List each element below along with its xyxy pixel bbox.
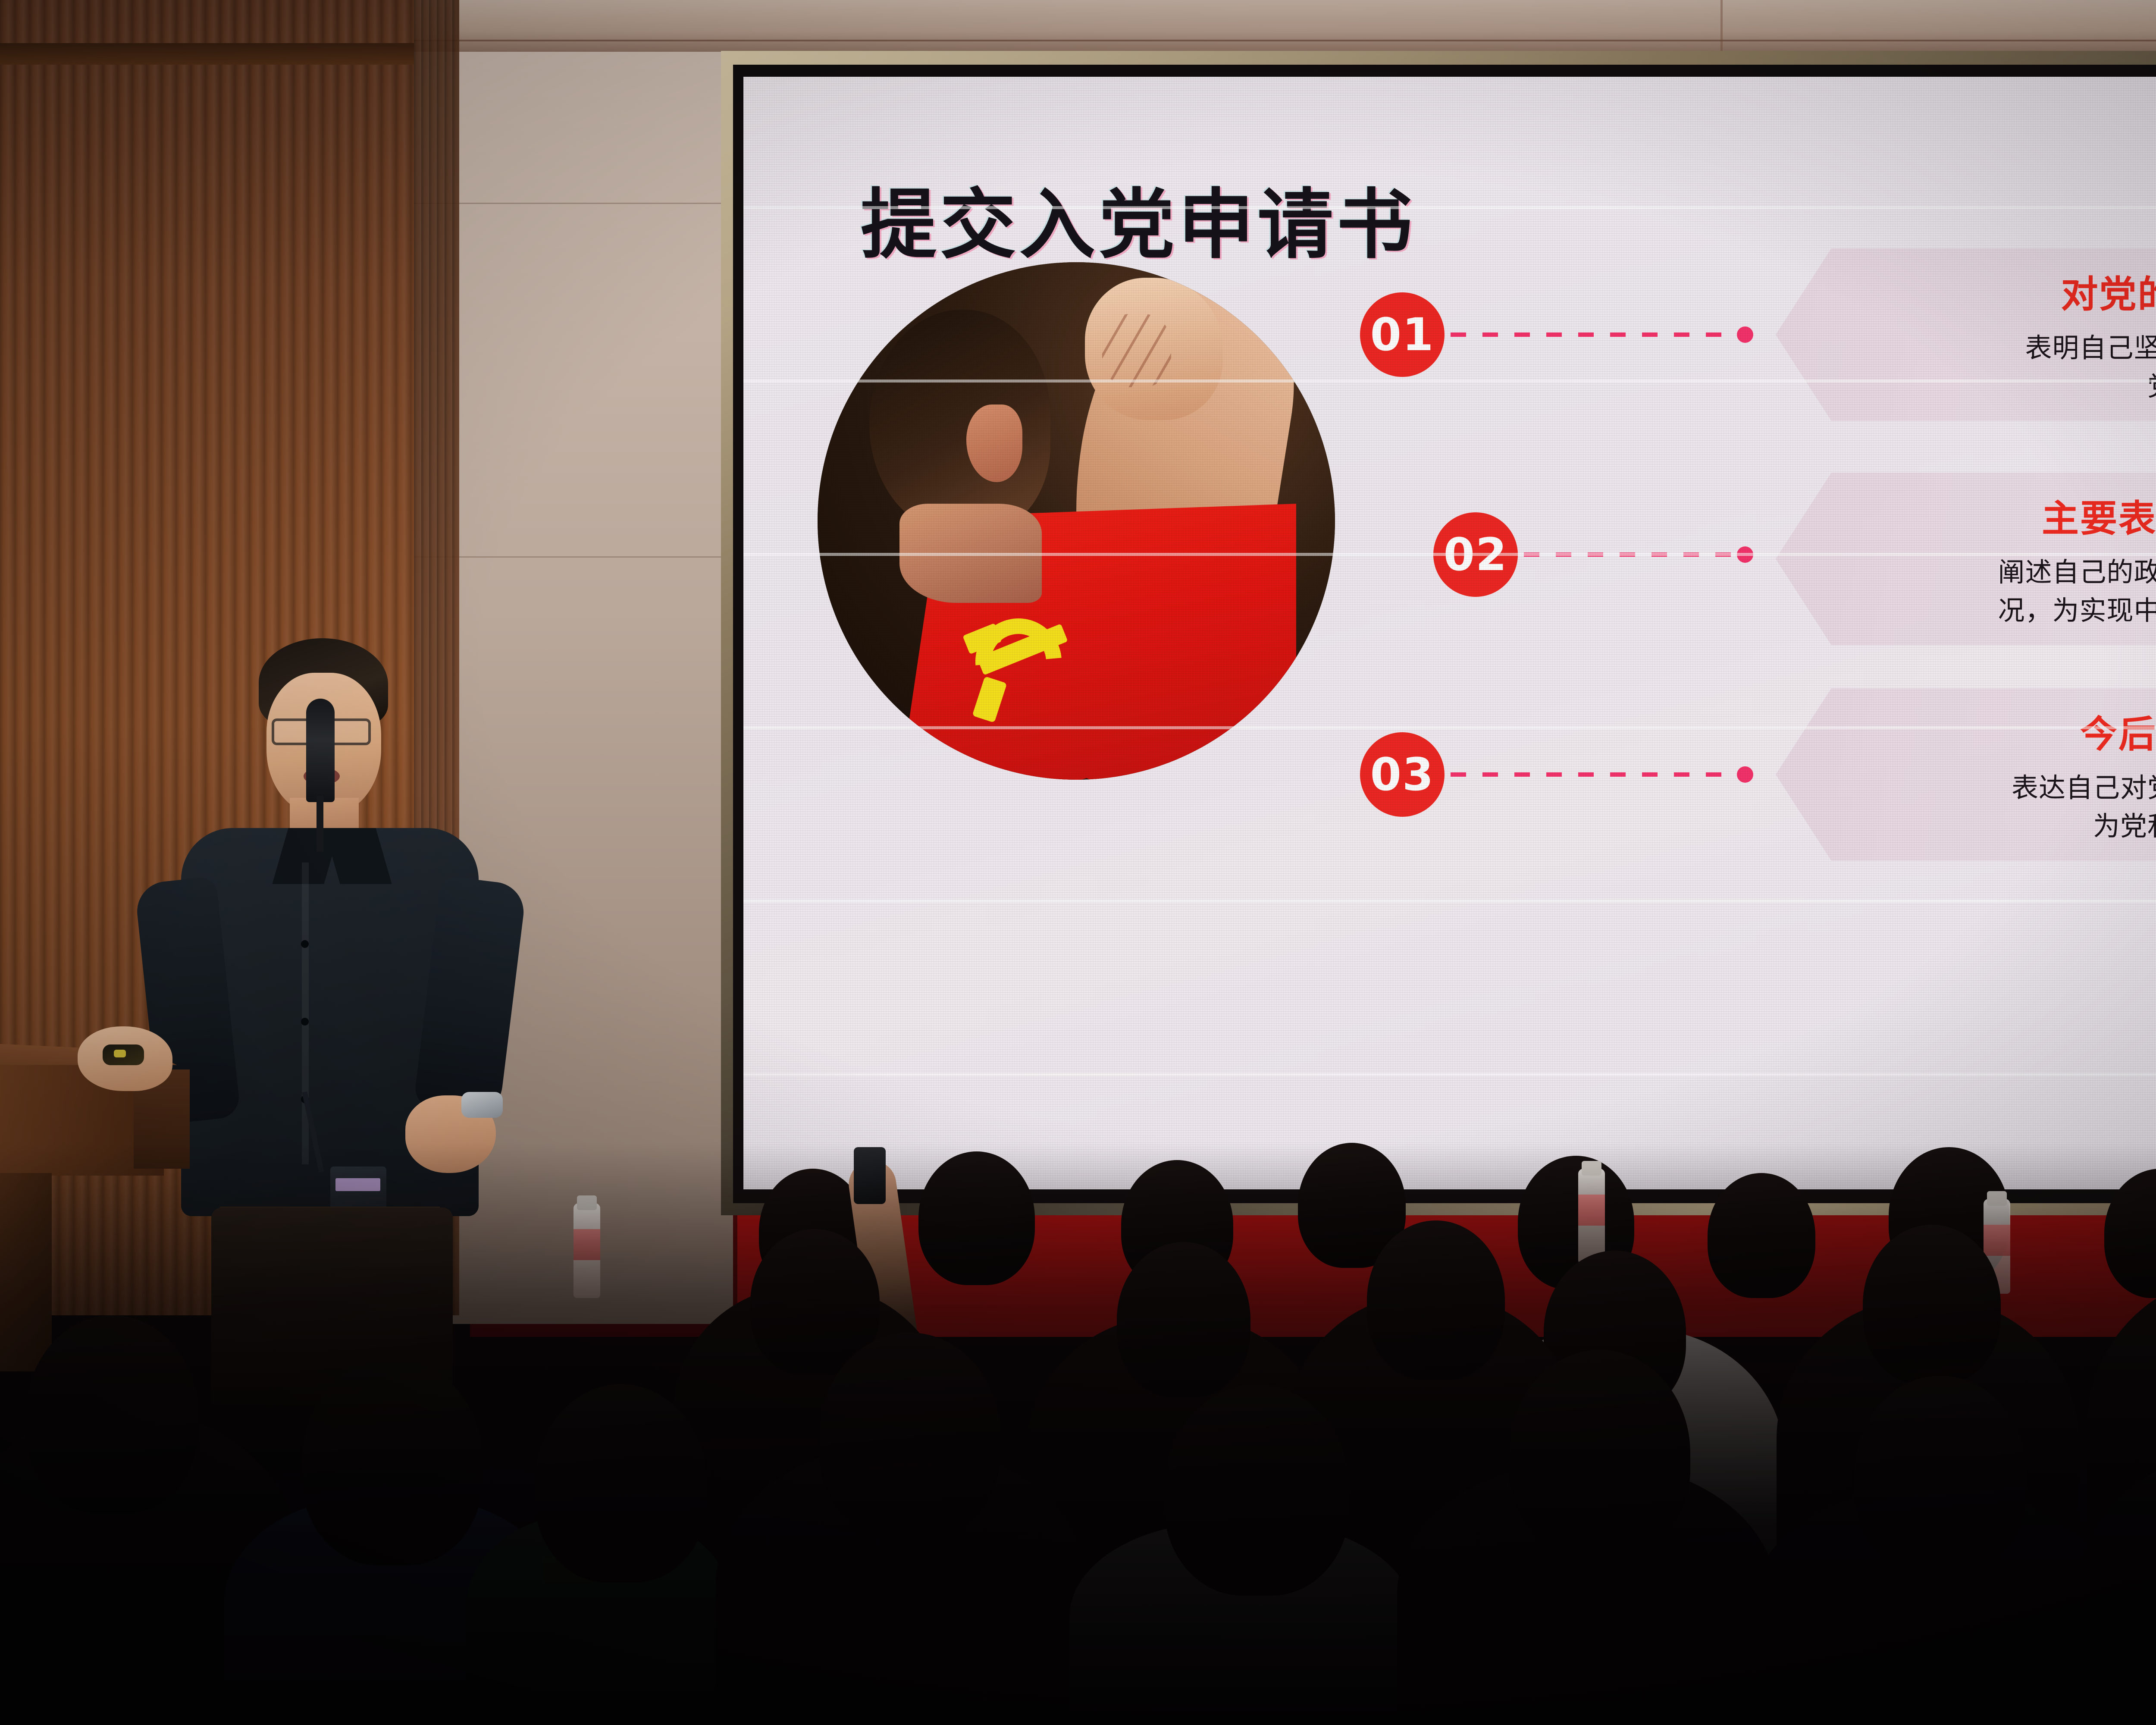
audience-shadow-overlay <box>0 1143 2156 1725</box>
ceiling-tick <box>1720 0 1723 52</box>
plaster-seam <box>414 203 733 204</box>
info-block-heading: 主要表现情况：崇高的理想信念 <box>2042 488 2156 542</box>
audience-area: ABZA <box>0 1143 2156 1725</box>
item-badge-01[interactable]: 01 <box>1360 292 1445 377</box>
wood-wall-top-edge <box>0 43 414 65</box>
plaster-seam <box>414 556 733 558</box>
slide-title: 提交入党申请书 <box>861 163 1416 273</box>
connector-line-01 <box>1451 332 1748 337</box>
oath-photo-circle <box>818 262 1335 780</box>
shirt-button <box>301 940 309 948</box>
photo-fist-knuckles <box>1102 314 1171 387</box>
screenshot-stage: 提交入党申请书 01 <box>0 0 2156 1725</box>
microphone-head <box>306 699 335 802</box>
info-block-03[interactable]: 今后努力的方向及如何实现 表达自己对党和人民事业的责任感和使命感，愿意 为党和人… <box>1776 688 2156 861</box>
photo-person-neck <box>899 504 1042 603</box>
info-block-body: 阐述自己的政治、思想、学习、工作、作风等方面情 况，为实现中华民族伟大复兴的中国… <box>1998 553 2156 629</box>
info-block-heading: 对党的认识：坚定的政治立场 <box>2061 264 2156 318</box>
wristwatch <box>461 1092 503 1118</box>
hammer-sickle-emblem <box>960 603 1085 728</box>
photo-person-head <box>869 310 1050 534</box>
connector-line-03 <box>1451 772 1748 777</box>
presentation-slide: 提交入党申请书 01 <box>743 77 2156 1189</box>
item-badge-03[interactable]: 03 <box>1360 732 1445 817</box>
info-block-body: 表达自己对党和人民事业的责任感和使命感，愿意 为党和人民的事业贡献自己的力量。 <box>2012 769 2156 845</box>
shirt-button <box>301 1018 309 1026</box>
connector-line-02 <box>1524 552 1748 557</box>
microphone-stand <box>317 796 323 852</box>
info-block-heading: 今后努力的方向及如何实现 <box>2080 704 2156 758</box>
led-screen-display: 提交入党申请书 01 <box>743 77 2156 1189</box>
info-block-02[interactable]: 主要表现情况：崇高的理想信念 阐述自己的政治、思想、学习、工作、作风等方面情 况… <box>1776 473 2156 645</box>
info-block-body: 表明自己坚定的政治立场，拥护党的领导，遵守 党的纪律，执行党的决定。 <box>2025 329 2156 405</box>
clicker-indicator <box>114 1050 126 1057</box>
info-block-01[interactable]: 对党的认识：坚定的政治立场 表明自己坚定的政治立场，拥护党的领导，遵守 党的纪律… <box>1776 248 2156 421</box>
item-badge-02[interactable]: 02 <box>1433 512 1518 597</box>
